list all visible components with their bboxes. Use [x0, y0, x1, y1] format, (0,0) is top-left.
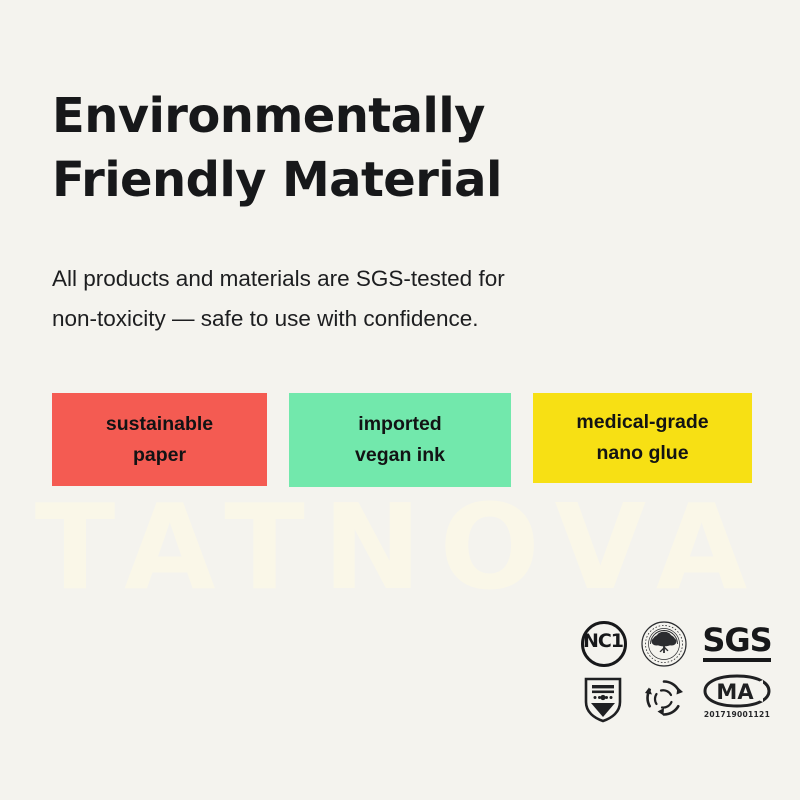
page-subtitle: All products and materials are SGS-teste…: [52, 259, 652, 339]
page-subtitle-line-2: non-toxicity — safe to use with confiden…: [52, 299, 652, 339]
recycling-icon: [640, 674, 688, 722]
brand-watermark: TATNOVA: [0, 488, 800, 606]
cma-certification-mark: MA 201719001121: [694, 674, 780, 719]
promo-page: TATNOVA Environmentally Friendly Materia…: [0, 0, 800, 800]
material-tag-line-1: imported: [358, 409, 441, 440]
nc1-icon: NC1: [580, 620, 626, 666]
sgs-certification-mark: SGS: [694, 620, 780, 662]
certification-badge-group: NC1: [572, 620, 780, 724]
material-tag-line-2: nano glue: [596, 438, 688, 469]
page-title-line-1: Environmentally: [52, 88, 485, 144]
shield-icon: [580, 674, 626, 724]
cma-certificate-number: 201719001121: [704, 710, 770, 719]
material-tag-line-1: sustainable: [106, 409, 213, 440]
svg-text:MA: MA: [716, 680, 754, 704]
page-title-line-2: Friendly Material: [52, 148, 692, 212]
sgs-label: SGS: [702, 624, 771, 656]
material-tag-line-2: vegan ink: [355, 440, 445, 471]
nc1-label: NC1: [580, 629, 626, 653]
tree-seal-certification-badge: [634, 620, 694, 668]
tree-seal-icon: [640, 620, 688, 668]
recycling-symbol-badge: [634, 674, 694, 722]
material-tag-imported-vegan-ink: imported vegan ink: [289, 393, 511, 487]
material-tag-medical-grade-nano-glue: medical-grade nano glue: [533, 393, 752, 483]
material-tag-line-1: medical-grade: [576, 407, 708, 438]
nc1-certification-badge: NC1: [572, 620, 634, 666]
page-title: Environmentally Friendly Material: [52, 84, 692, 213]
sgs-underline: [703, 658, 771, 662]
certification-badge-row-2: MA 201719001121: [572, 674, 780, 724]
sgs-icon: SGS: [702, 620, 771, 662]
shield-certification-badge: [572, 674, 634, 724]
material-tag-sustainable-paper: sustainable paper: [52, 393, 267, 486]
cma-icon: MA 201719001121: [701, 674, 773, 719]
page-subtitle-line-1: All products and materials are SGS-teste…: [52, 259, 652, 299]
material-tag-line-2: paper: [133, 440, 186, 471]
certification-badge-row-1: NC1: [572, 620, 780, 668]
material-tag-list: sustainable paper imported vegan ink med…: [52, 393, 752, 493]
cma-glyph-icon: MA: [701, 674, 773, 708]
